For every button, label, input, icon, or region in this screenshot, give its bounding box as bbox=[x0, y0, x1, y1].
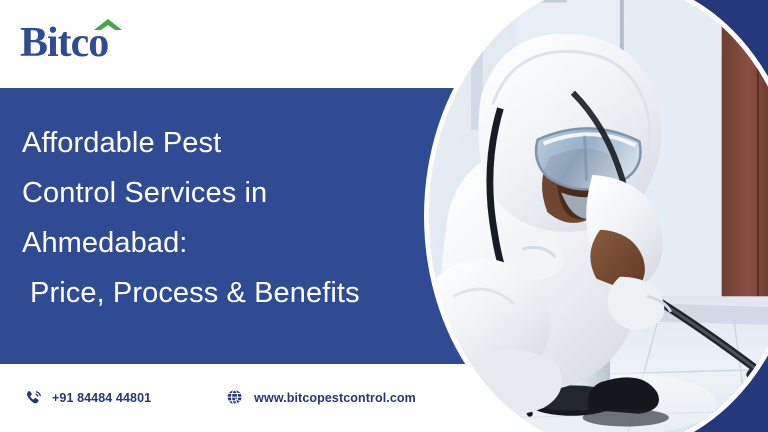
contact-website-label: www.bitcopestcontrol.com bbox=[254, 391, 416, 405]
globe-cursor-icon bbox=[225, 388, 245, 408]
headline-line-3: Ahmedabad: bbox=[22, 218, 452, 268]
headline-line-4: Price, Process & Benefits bbox=[22, 268, 452, 318]
page-title: Affordable Pest Control Services in Ahme… bbox=[22, 118, 452, 318]
contact-bar: +91 84484 44801 www.bitcopestcontrol.com bbox=[0, 364, 768, 432]
headline-line-2: Control Services in bbox=[22, 168, 452, 218]
brand-logo[interactable]: Bitco bbox=[20, 14, 148, 62]
banner-canvas: Bitco Affordable Pest Control Services i… bbox=[0, 0, 768, 432]
contact-phone-label: +91 84484 44801 bbox=[52, 391, 151, 405]
phone-ring-icon bbox=[24, 389, 43, 408]
headline-line-1: Affordable Pest bbox=[22, 118, 452, 168]
contact-website[interactable]: www.bitcopestcontrol.com bbox=[225, 388, 416, 408]
svg-text:Bitco: Bitco bbox=[20, 20, 108, 62]
contact-phone[interactable]: +91 84484 44801 bbox=[24, 389, 151, 408]
